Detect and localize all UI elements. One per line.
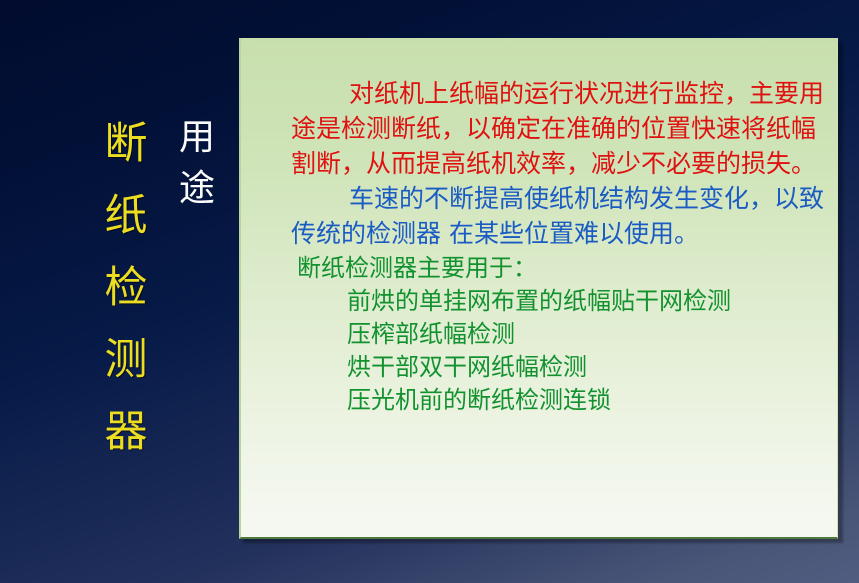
paragraph-red-text: 对纸机上纸幅的运行状况进行监控，主要用途是检测断纸，以确定在准确的位置快速将纸幅… [291,76,833,181]
list-item: 压光机前的断纸检测连锁 [347,384,833,417]
title-char-2: 纸 [105,180,148,252]
title-char-5: 器 [105,396,148,468]
green-bullet-list: 前烘的单挂网布置的纸幅贴干网检测 压榨部纸幅检测 烘干部双干网纸幅检测 压光机前… [291,285,833,417]
slide-subtitle-vertical: 用 途 [175,112,219,214]
content-panel: 对纸机上纸幅的运行状况进行监控，主要用途是检测断纸，以确定在准确的位置快速将纸幅… [239,38,838,539]
green-heading: 断纸检测器主要用于： [297,251,833,285]
list-item: 烘干部双干网纸幅检测 [347,351,833,384]
list-item: 压榨部纸幅检测 [347,318,833,351]
title-char-3: 检 [105,252,148,324]
subtitle-char-1: 用 [179,112,215,163]
paragraph-blue: 车速的不断提高使纸机结构发生变化，以致传统的检测器 在某些位置难以使用。 [291,181,833,251]
subtitle-char-2: 途 [179,163,215,214]
slide-canvas: 断 纸 检 测 器 用 途 对纸机上纸幅的运行状况进行监控，主要用途是检测断纸，… [0,0,859,583]
panel-body: 对纸机上纸幅的运行状况进行监控，主要用途是检测断纸，以确定在准确的位置快速将纸幅… [291,76,833,417]
paragraph-red: 对纸机上纸幅的运行状况进行监控，主要用途是检测断纸，以确定在准确的位置快速将纸幅… [291,76,833,181]
paragraph-blue-text: 车速的不断提高使纸机结构发生变化，以致传统的检测器 在某些位置难以使用。 [291,181,833,251]
title-char-4: 测 [105,324,148,396]
title-char-1: 断 [105,108,148,180]
list-item: 前烘的单挂网布置的纸幅贴干网检测 [347,285,833,318]
slide-title-vertical: 断 纸 检 测 器 [100,108,152,468]
